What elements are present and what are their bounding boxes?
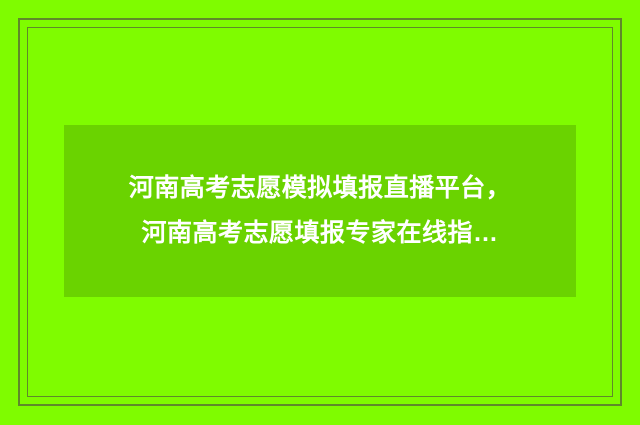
- caption-line-2: 河南高考志愿填报专家在线指…: [141, 211, 498, 256]
- caption-overlay-panel: 河南高考志愿模拟填报直播平台， 河南高考志愿填报专家在线指…: [64, 125, 576, 297]
- caption-line-1: 河南高考志愿模拟填报直播平台，: [129, 166, 512, 211]
- placeholder-card: 河南高考志愿模拟填报直播平台， 河南高考志愿填报专家在线指…: [0, 0, 640, 425]
